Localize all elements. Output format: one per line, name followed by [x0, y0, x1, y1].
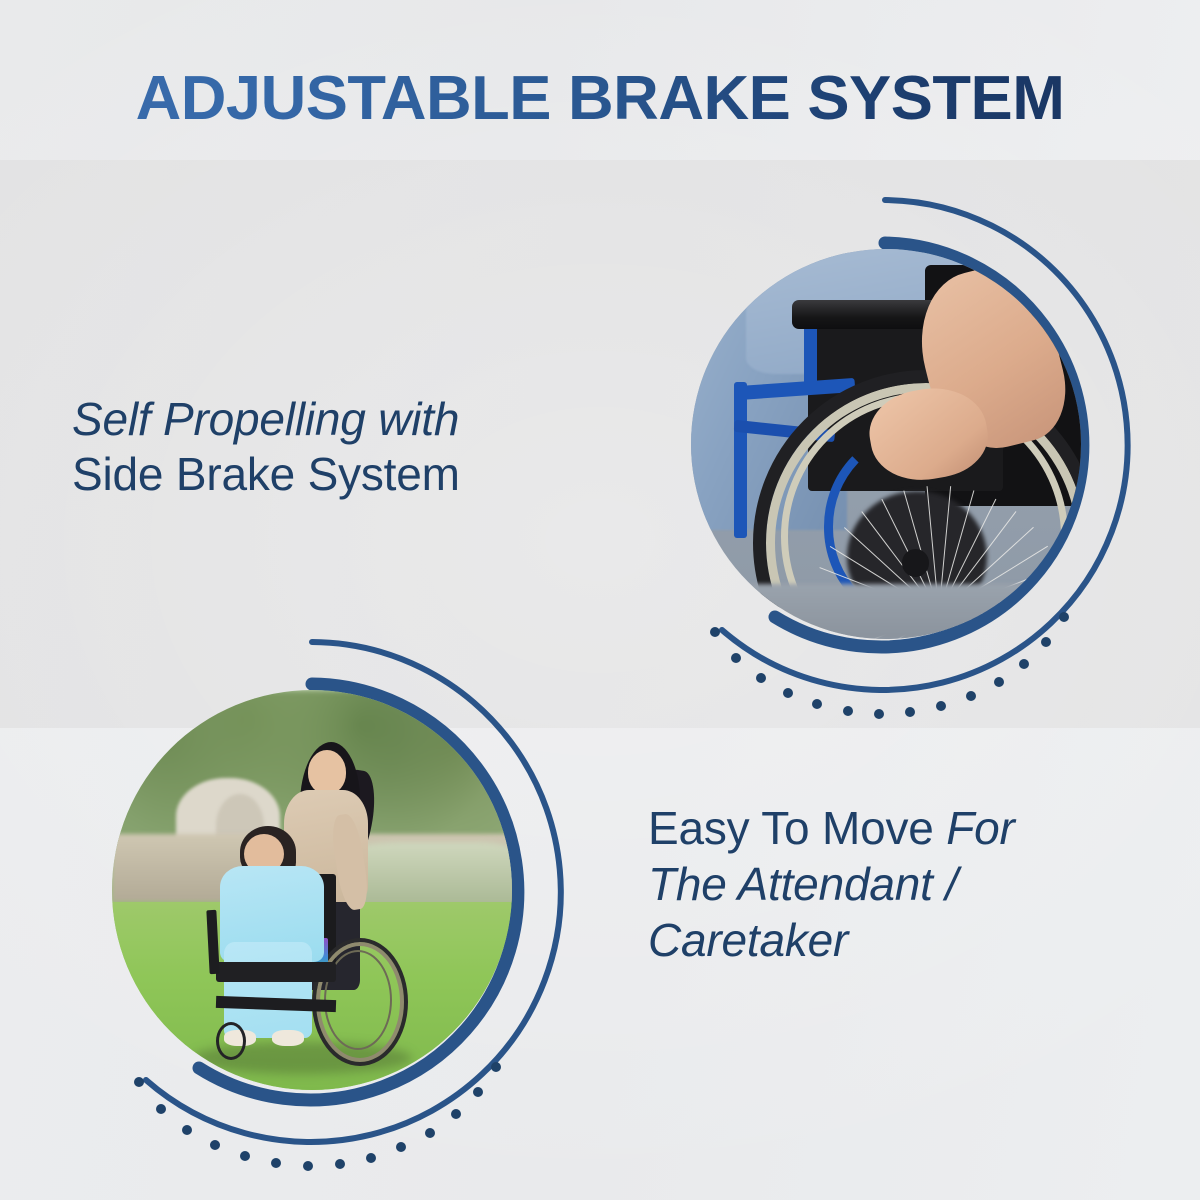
feature-image-self-propelling — [620, 180, 1160, 720]
feature2-line1: Easy To Move For — [648, 800, 1168, 856]
photo-self-propelling — [691, 249, 1081, 639]
photo-b-caretaker-head — [308, 750, 346, 794]
photo-a-hub — [902, 549, 929, 576]
feature-caption-easy-to-move: Easy To Move For The Attendant / Caretak… — [648, 800, 1168, 968]
feature2-line1-italic: For — [946, 802, 1014, 854]
photo-b-chair-seat — [216, 962, 336, 982]
photo-easy-to-move — [112, 690, 512, 1090]
feature-caption-self-propelling: Self Propelling with Side Brake System — [72, 392, 632, 502]
feature1-line2: Side Brake System — [72, 447, 632, 502]
feature2-line3: Caretaker — [648, 912, 1168, 968]
photo-b-chair-castor — [216, 1022, 246, 1060]
feature1-line1: Self Propelling with — [72, 392, 632, 447]
page-title: ADJUSTABLE BRAKE SYSTEM — [0, 68, 1200, 130]
photo-a-floor — [691, 584, 1081, 639]
photo-a-frame-vertical — [734, 382, 747, 538]
feature2-line2: The Attendant / — [648, 856, 1168, 912]
feature2-line1-roman: Easy To Move — [648, 802, 946, 854]
product-feature-banner: ADJUSTABLE BRAKE SYSTEM — [0, 0, 1200, 1200]
feature-image-easy-to-move — [42, 622, 590, 1170]
photo-b-patient-shoe-right — [272, 1030, 304, 1046]
